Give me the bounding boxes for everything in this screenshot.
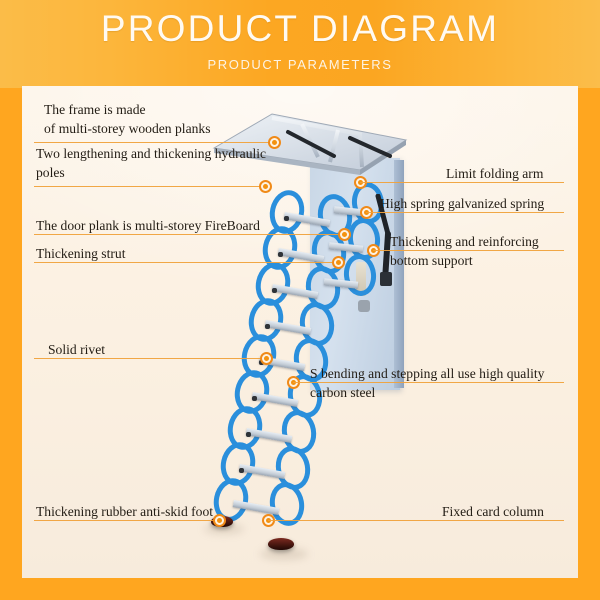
callout-label-limit-folding-arm: Limit folding arm xyxy=(446,164,543,183)
callout-label-galvanized-spring: High spring galvanized spring xyxy=(380,194,544,213)
callout-label-fixed-card-column: Fixed card column xyxy=(442,502,544,521)
marker-frame-wooden-planks[interactable] xyxy=(268,136,281,149)
marker-thickening-strut[interactable] xyxy=(332,256,345,269)
diagram-panel: The frame is made of multi-storey wooden… xyxy=(22,86,578,578)
marker-door-plank-fireboard[interactable] xyxy=(338,228,351,241)
page-subtitle: PRODUCT PARAMETERS xyxy=(0,57,600,73)
callout-line-2: bottom support xyxy=(390,251,539,270)
callout-line-1: Solid rivet xyxy=(48,340,105,359)
callout-line-1: The door plank is multi-storey FireBoard xyxy=(36,216,260,235)
leader-line-frame-wooden-planks xyxy=(34,142,274,143)
callout-label-bottom-support: Thickening and reinforcing bottom suppor… xyxy=(390,232,539,270)
callout-line-1: Thickening and reinforcing xyxy=(390,232,539,251)
marker-anti-skid-foot[interactable] xyxy=(213,514,226,527)
callout-label-solid-rivet: Solid rivet xyxy=(48,340,105,359)
callout-line-1: Fixed card column xyxy=(442,502,544,521)
callout-line-1: Limit folding arm xyxy=(446,164,543,183)
callout-label-hydraulic-poles: Two lengthening and thickening hydraulic… xyxy=(36,144,266,182)
callout-line-1: High spring galvanized spring xyxy=(380,194,544,213)
callout-line-1: Two lengthening and thickening hydraulic xyxy=(36,144,266,163)
leader-line-hydraulic-poles xyxy=(34,186,265,187)
marker-solid-rivet[interactable] xyxy=(260,352,273,365)
callout-label-door-plank-fireboard: The door plank is multi-storey FireBoard xyxy=(36,216,260,235)
callout-label-anti-skid-foot: Thickening rubber anti-skid foot xyxy=(36,502,213,521)
callout-label-frame-wooden-planks: The frame is made of multi-storey wooden… xyxy=(44,100,211,138)
callout-line-1: Thickening strut xyxy=(36,244,125,263)
callout-line-1: The frame is made xyxy=(44,100,211,119)
callout-line-2: carbon steel xyxy=(310,383,544,402)
page-title: PRODUCT DIAGRAM xyxy=(0,6,600,52)
callout-label-thickening-strut: Thickening strut xyxy=(36,244,125,263)
poster-header: PRODUCT DIAGRAM PRODUCT PARAMETERS xyxy=(0,0,600,88)
callout-line-1: Thickening rubber anti-skid foot xyxy=(36,502,213,521)
callout-line-1: S bending and stepping all use high qual… xyxy=(310,364,544,383)
callout-line-2: poles xyxy=(36,163,266,182)
callout-line-2: of multi-storey wooden planks xyxy=(44,119,211,138)
product-diagram-poster: PRODUCT DIAGRAM PRODUCT PARAMETERS xyxy=(0,0,600,600)
callout-label-carbon-steel: S bending and stepping all use high qual… xyxy=(310,364,544,402)
